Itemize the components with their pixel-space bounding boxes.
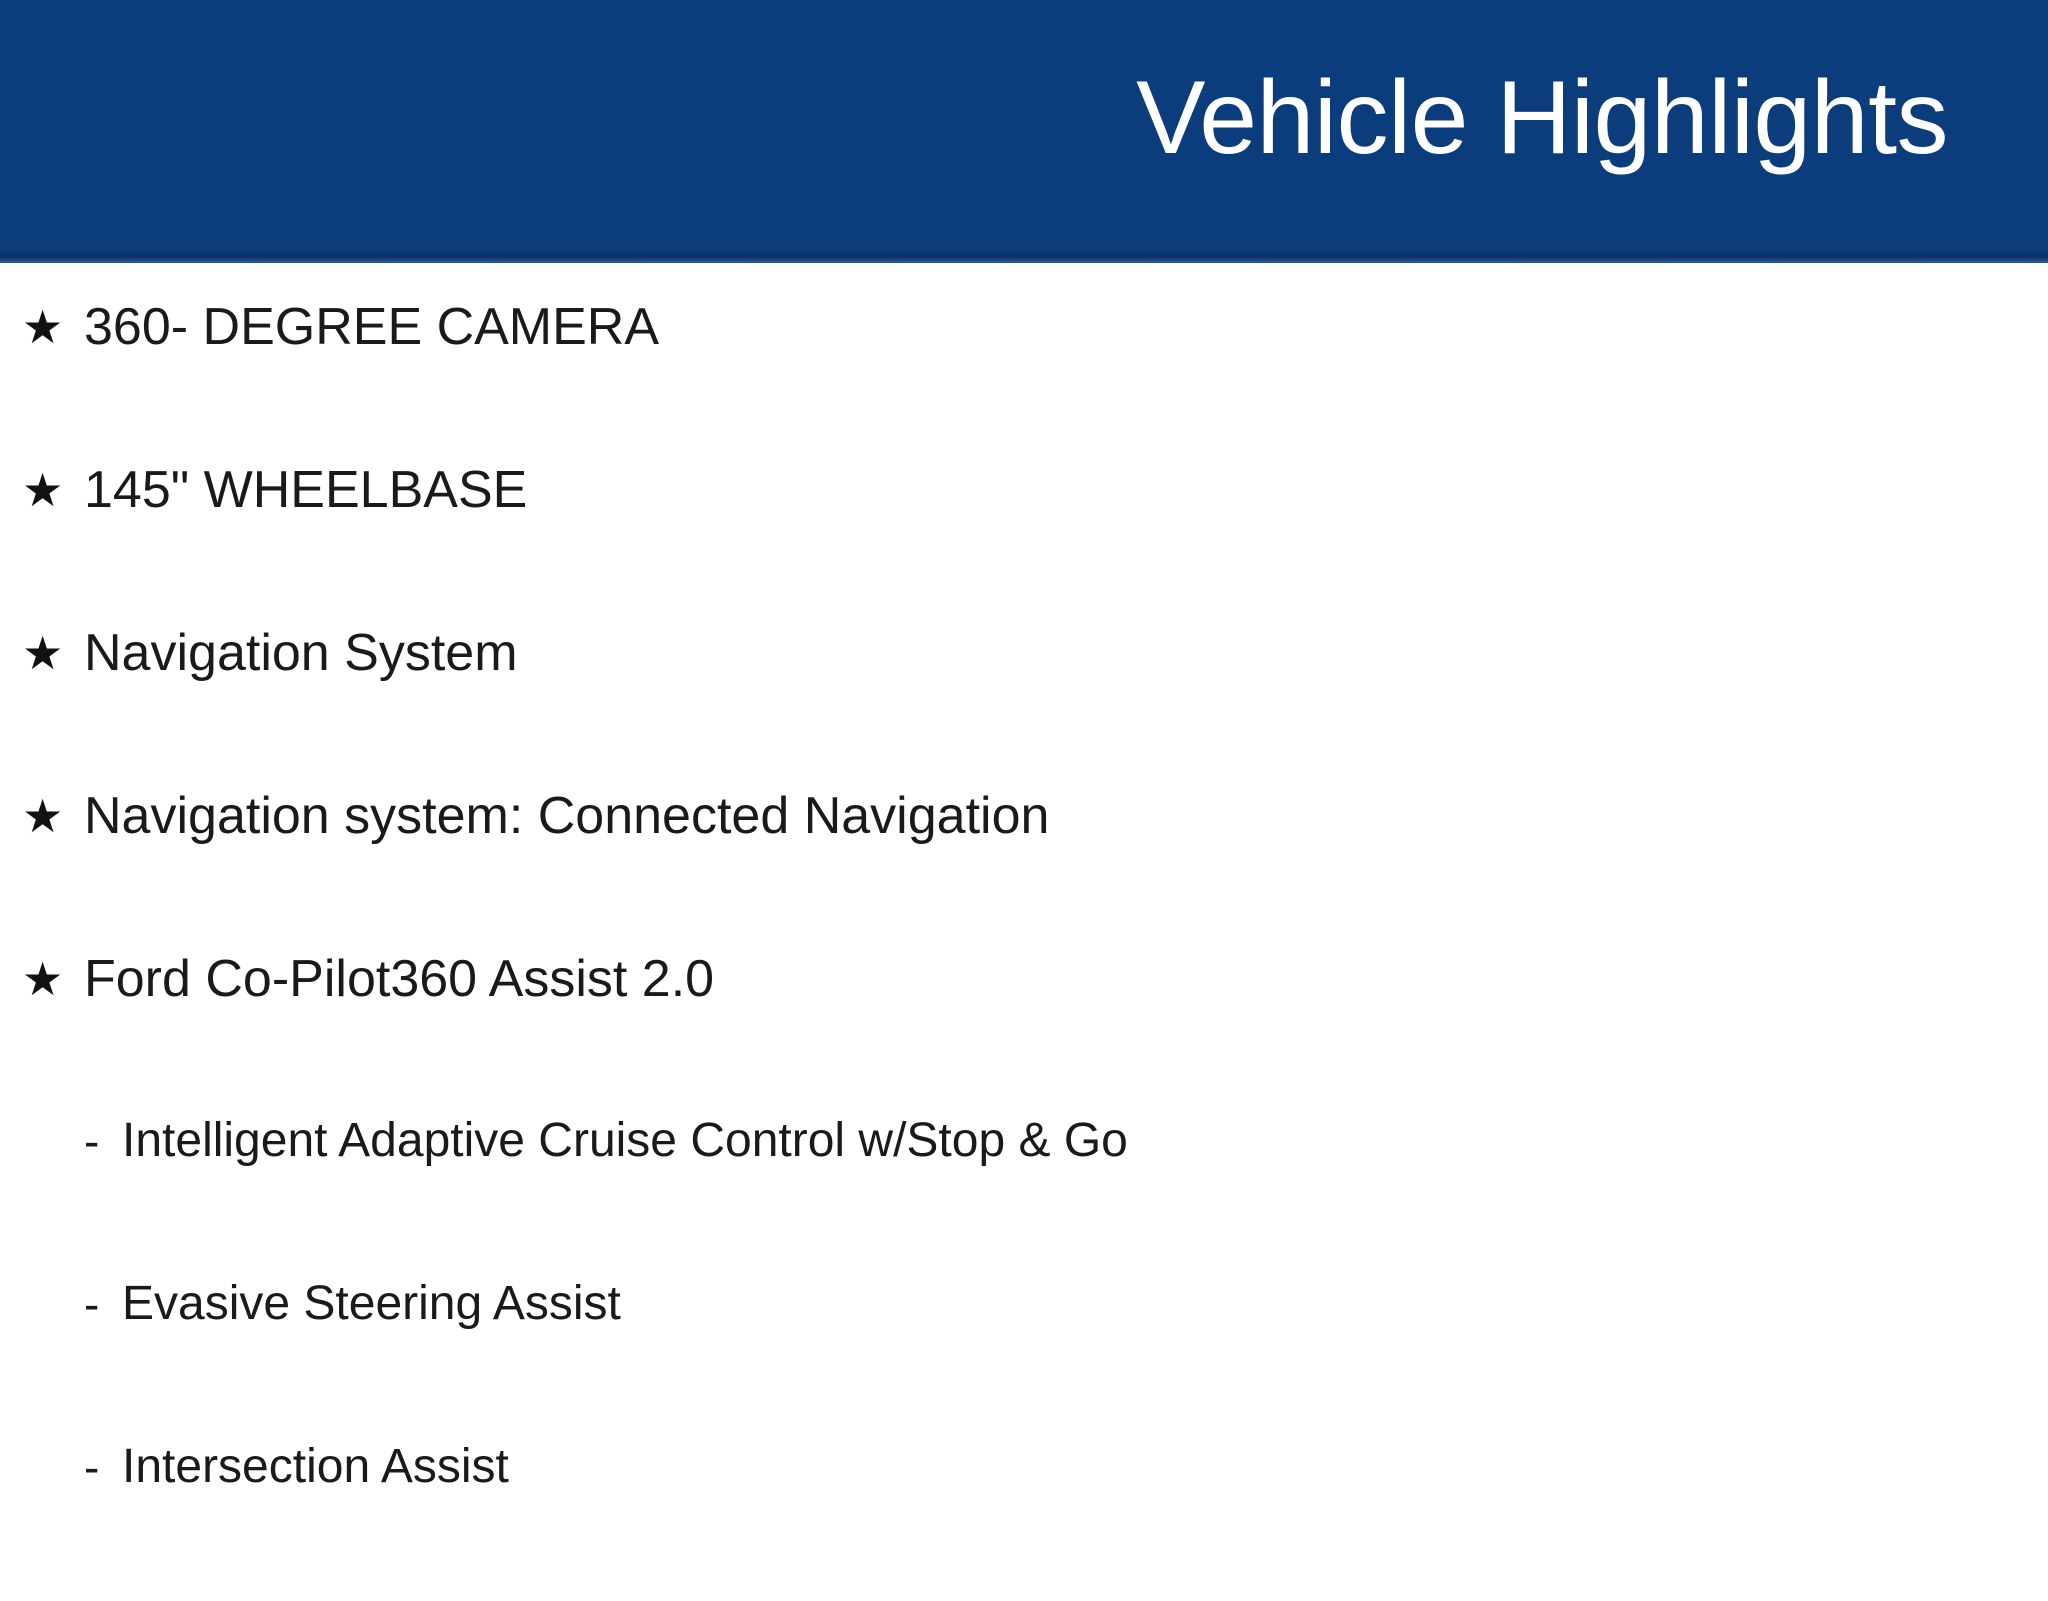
list-item-label: 360- DEGREE CAMERA [84, 297, 2048, 357]
dash-bullet-icon: - [84, 1275, 122, 1333]
highlights-list: ★360- DEGREE CAMERA★145" WHEELBASE★Navig… [0, 297, 2048, 1601]
dash-bullet-icon: - [84, 1438, 122, 1496]
header-band-shadow [0, 249, 2048, 263]
star-bullet-icon: ★ [22, 623, 84, 683]
list-item-label: Intelligent Adaptive Cruise Control w/St… [122, 1112, 2048, 1170]
list-item-label: 145" WHEELBASE [84, 460, 2048, 520]
list-item: ★Navigation System [0, 623, 2048, 786]
list-item-label: Evasive Steering Assist [122, 1275, 2048, 1333]
slide-canvas: Vehicle Highlights ★360- DEGREE CAMERA★1… [0, 0, 2048, 1536]
list-item-label: Intersection Assist [122, 1438, 2048, 1496]
list-item: ★145" WHEELBASE [0, 460, 2048, 623]
dash-bullet-icon: - [84, 1112, 122, 1170]
star-bullet-icon: ★ [22, 297, 84, 357]
list-item-label: Navigation System [84, 623, 2048, 683]
list-item: ★Navigation system: Connected Navigation [0, 786, 2048, 949]
list-item-label: Ford Co-Pilot360 Assist 2.0 [84, 949, 2048, 1009]
list-item: -Evasive Steering Assist [0, 1275, 2048, 1438]
list-item: -Intelligent Adaptive Cruise Control w/S… [0, 1112, 2048, 1275]
star-bullet-icon: ★ [22, 949, 84, 1009]
slide-body: ★360- DEGREE CAMERA★145" WHEELBASE★Navig… [0, 263, 2048, 1536]
list-item: -Intersection Assist [0, 1438, 2048, 1601]
star-bullet-icon: ★ [22, 460, 84, 520]
page-title: Vehicle Highlights [1136, 66, 1948, 170]
list-item: ★Ford Co-Pilot360 Assist 2.0 [0, 949, 2048, 1112]
list-item: ★360- DEGREE CAMERA [0, 297, 2048, 460]
star-bullet-icon: ★ [22, 786, 84, 846]
list-item-label: Navigation system: Connected Navigation [84, 786, 2048, 846]
slide-header-band: Vehicle Highlights [0, 0, 2048, 263]
